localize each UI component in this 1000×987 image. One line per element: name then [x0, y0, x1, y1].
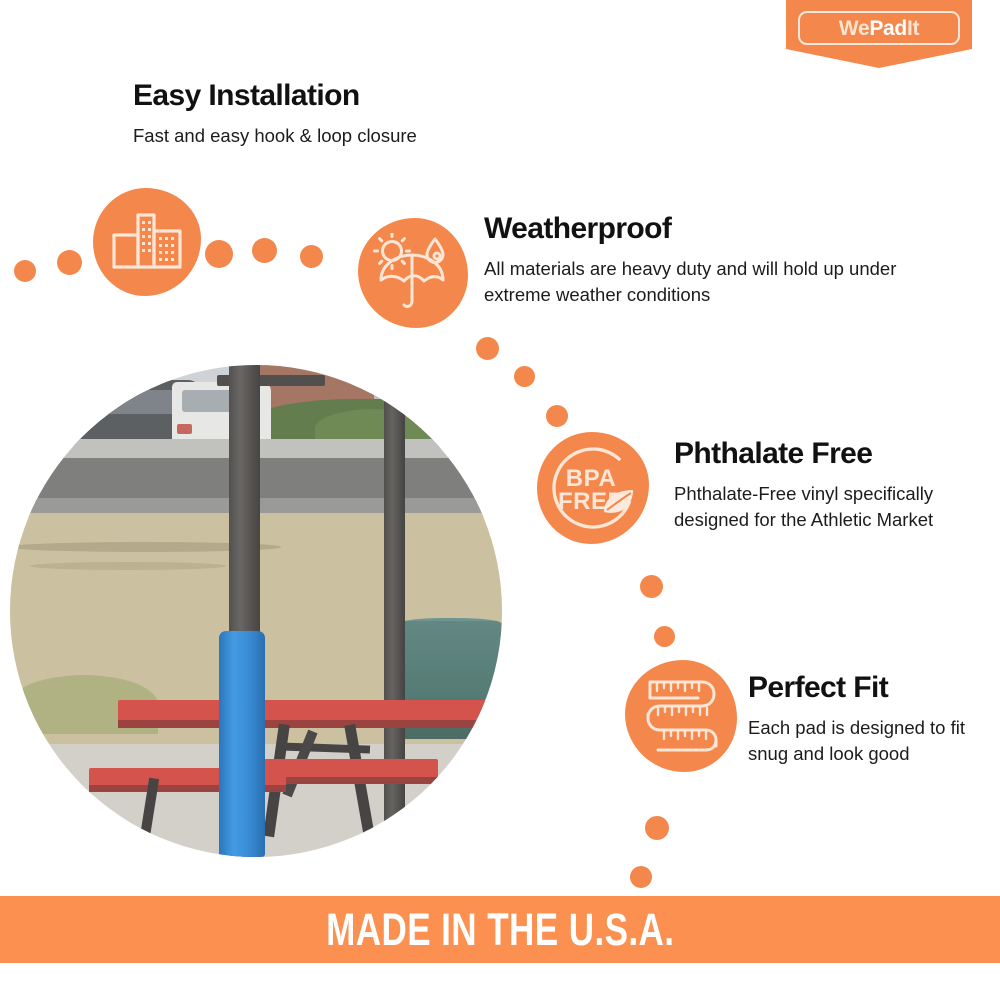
trail-dot [252, 238, 277, 263]
feature-title-phthalate-free: Phthalate Free [674, 438, 872, 470]
trail-dot [640, 575, 663, 598]
feature-description-weatherproof: All materials are heavy duty and will ho… [484, 256, 904, 307]
trail-dot [654, 626, 675, 647]
feature-icon-perfect-fit[interactable] [625, 660, 737, 772]
trail-dot [14, 260, 36, 282]
feature-title-perfect-fit: Perfect Fit [748, 672, 888, 704]
trail-dot [476, 337, 499, 360]
logo-text-we: We [839, 17, 870, 40]
feature-description-easy-installation: Fast and easy hook & loop closure [133, 123, 553, 149]
logo-text-it: It [907, 17, 919, 40]
feature-icon-weatherproof[interactable] [358, 218, 468, 328]
logo-text-pad: Pad [869, 17, 907, 40]
trail-dot [546, 405, 568, 427]
product-photo-scene [10, 365, 502, 857]
trail-dot [57, 250, 82, 275]
made-in-usa-banner: MADE IN THE U.S.A. [0, 896, 1000, 963]
trail-dot [205, 240, 233, 268]
trail-dot [645, 816, 669, 840]
made-in-usa-text: MADE IN THE U.S.A. [326, 904, 674, 956]
blue-pole-pad [219, 631, 265, 857]
feature-icon-easy-installation[interactable] [93, 188, 201, 296]
product-photo [10, 365, 502, 857]
trail-dot [514, 366, 535, 387]
logo-outline: WePadIt [798, 11, 960, 45]
feature-icon-phthalate-free[interactable]: BPA FREE [537, 432, 649, 544]
feature-description-perfect-fit: Each pad is designed to fit snug and loo… [748, 715, 978, 766]
trail-dot [630, 866, 652, 888]
trail-dot [300, 245, 323, 268]
feature-description-phthalate-free: Phthalate-Free vinyl specifically design… [674, 481, 944, 532]
feature-title-weatherproof: Weatherproof [484, 213, 671, 245]
logo-text: WePadIt [839, 18, 919, 39]
feature-title-easy-installation: Easy Installation [133, 80, 360, 112]
brand-logo[interactable]: WePadIt [786, 0, 972, 68]
infographic-page: WePadIt Easy Installation Fast and easy … [0, 0, 1000, 987]
